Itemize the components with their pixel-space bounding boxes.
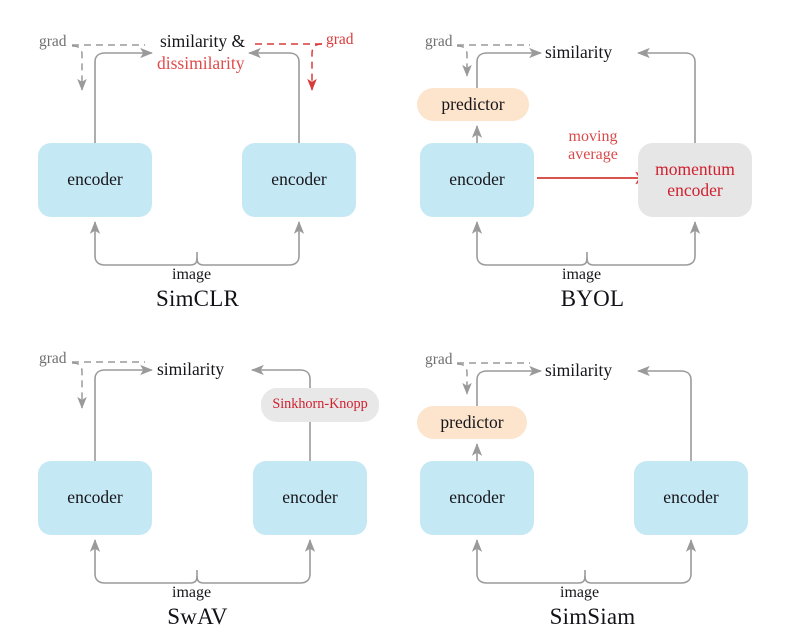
objective-label: similarity [157, 359, 224, 380]
panel-simsiam: predictor encoder encoder grad similarit… [395, 318, 790, 636]
grad-label-left: grad [39, 33, 67, 51]
encoder-box-right[interactable]: encoder [634, 461, 748, 535]
encoder-label: encoder [271, 170, 326, 190]
image-label: image [172, 266, 211, 285]
objective-label-line1: similarity & [160, 31, 245, 52]
grad-arrow-left [72, 46, 82, 90]
panel-title-simclr: SimCLR [0, 286, 395, 312]
momentum-encoder-line1: momentum [655, 159, 735, 179]
image-label: image [562, 266, 601, 285]
panel-simclr: encoder encoder grad grad similarity & d… [0, 0, 395, 318]
panel-byol: predictor encoder momentum encoder grad … [395, 0, 790, 318]
grad-label-right: grad [326, 31, 354, 49]
flow-right-to-objective [249, 53, 299, 143]
image-fork-right [587, 238, 695, 265]
encoder-box-left[interactable]: encoder [38, 461, 152, 535]
flow-momentum-to-similarity [638, 53, 695, 143]
image-fork-right [585, 556, 691, 583]
flow-sinkhorn-to-similarity [252, 370, 310, 388]
flow-predictor-to-similarity [477, 53, 541, 88]
image-label: image [560, 584, 599, 603]
momentum-encoder-line2: encoder [667, 180, 722, 200]
encoder-box-left[interactable]: encoder [420, 461, 534, 535]
sinkhorn-knopp-box[interactable]: Sinkhorn-Knopp [261, 388, 379, 422]
grad-arrow-right [312, 44, 322, 90]
grad-label-left: grad [425, 351, 453, 369]
flow-predictor-to-similarity [477, 371, 541, 406]
panel-title-simsiam: SimSiam [395, 604, 790, 630]
image-fork-left [477, 556, 585, 583]
momentum-encoder-box[interactable]: momentum encoder [638, 143, 752, 217]
flow-right-encoder-to-similarity [638, 371, 691, 461]
image-label: image [172, 584, 211, 603]
grad-label-left: grad [39, 350, 67, 368]
moving-average-label: moving average [550, 128, 636, 164]
objective-label: similarity [545, 42, 612, 63]
encoder-label: encoder [663, 488, 718, 508]
objective-label-line2: dissimilarity [157, 53, 245, 74]
image-fork-left [95, 238, 197, 265]
image-fork-left [477, 238, 587, 265]
encoder-label: encoder [449, 170, 504, 190]
moving-average-line1: moving [569, 128, 618, 145]
encoder-label: encoder [282, 488, 337, 508]
predictor-box[interactable]: predictor [417, 406, 527, 439]
encoder-label: encoder [67, 488, 122, 508]
image-fork-left [95, 556, 197, 583]
flow-left-to-similarity [95, 370, 152, 461]
predictor-label: predictor [441, 95, 504, 115]
grad-arrow-left [457, 364, 467, 394]
grad-arrow-left [457, 46, 467, 76]
encoder-box-left[interactable]: encoder [420, 143, 534, 217]
image-fork-right [197, 556, 310, 583]
panel-title-byol: BYOL [395, 286, 790, 312]
panel-swav: encoder encoder Sinkhorn-Knopp grad simi… [0, 318, 395, 636]
grad-label-left: grad [425, 33, 453, 51]
encoder-box-right[interactable]: encoder [242, 143, 356, 217]
figure-root: encoder encoder grad grad similarity & d… [0, 0, 790, 636]
encoder-box-left[interactable]: encoder [38, 143, 152, 217]
objective-label: similarity [545, 360, 612, 381]
moving-average-line2: average [568, 146, 618, 163]
sinkhorn-knopp-label: Sinkhorn-Knopp [272, 397, 367, 413]
flow-left-to-objective [95, 53, 152, 143]
predictor-box[interactable]: predictor [417, 88, 529, 121]
grad-arrow-left [72, 363, 82, 408]
predictor-label: predictor [440, 413, 503, 433]
image-fork-right [197, 238, 299, 265]
encoder-label: encoder [67, 170, 122, 190]
encoder-label: encoder [449, 488, 504, 508]
panel-title-swav: SwAV [0, 604, 395, 630]
momentum-encoder-label: momentum encoder [655, 159, 735, 200]
encoder-box-right[interactable]: encoder [253, 461, 367, 535]
